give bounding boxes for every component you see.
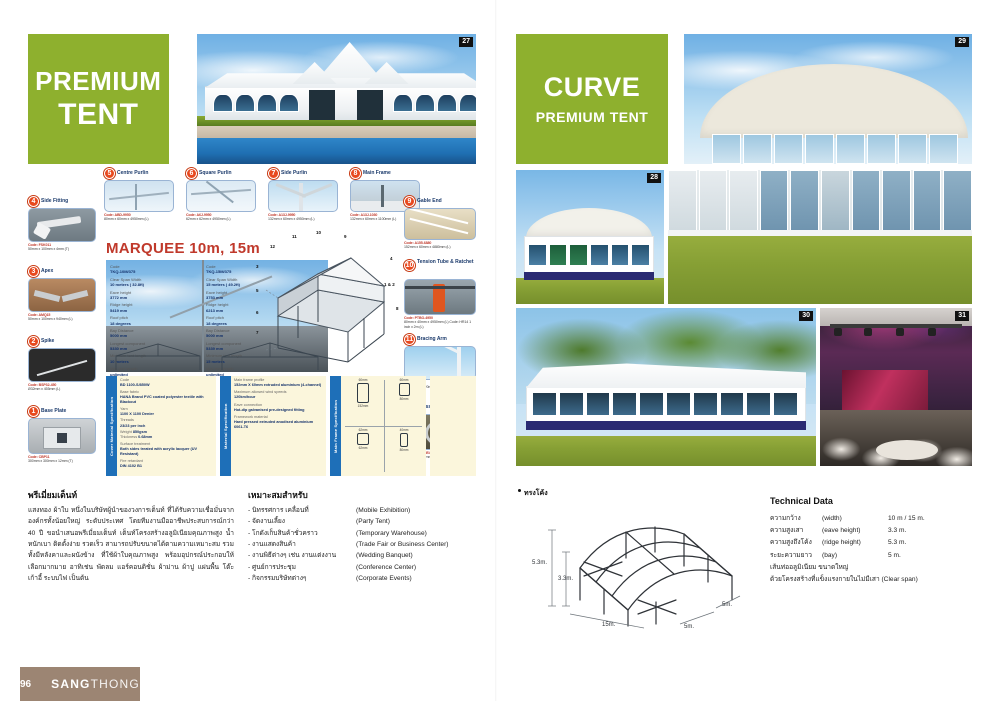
- bullet-icon: [518, 489, 521, 492]
- technical-row: ความสูงเสา (eave height) 3.3 m.: [770, 525, 976, 537]
- usage-en: (Temporary Warehouse): [356, 528, 480, 539]
- photo-badge: 29: [955, 37, 969, 47]
- material-spec-content: Main frame profile152mm X 60mm extruded …: [231, 376, 326, 476]
- intro-block: พรีเมี่ยมเต็นท์ แสงทอง ผ้าใบ หนึ่งในบริษ…: [28, 488, 234, 584]
- window-row: [528, 244, 650, 266]
- part-photo: [28, 418, 96, 454]
- part-code: Code: A6J-9950 62mm x 62mm x 4950mm (L): [186, 213, 256, 222]
- tech-th: ความกว้าง: [770, 513, 822, 525]
- technical-row: ความสูงถึงโค้ง (ridge height) 5.3 m.: [770, 537, 976, 549]
- part-name: Base Plate: [41, 409, 66, 414]
- photo-31: 31: [820, 308, 972, 466]
- usage-en: (Wedding Banquet): [356, 550, 480, 561]
- callout-7: 7: [256, 330, 259, 335]
- left-banner: PREMIUM TENT: [28, 34, 476, 164]
- usage-item: - กิจกรรมบริษัทต่างๆ (Corporate Events): [248, 573, 480, 584]
- photo-badge: 31: [955, 311, 969, 321]
- part-code: Code: A13J-9950 132mm x 60mm x 4950mm (L…: [268, 213, 338, 222]
- tech-th: ระยะความยาว: [770, 550, 822, 562]
- frame-cell-1: 60mm 152mm: [345, 378, 381, 409]
- technical-note-1: เส้นท่ออลูมิเนียม ขนาดใหญ่: [770, 562, 976, 574]
- usage-th: - งานพิธีต่างๆ เช่น งานแต่งงาน: [248, 550, 356, 561]
- photo-badge: 28: [647, 173, 661, 183]
- window: [437, 94, 457, 112]
- usage-th: - งานแสดงสินค้า: [248, 539, 356, 550]
- part-number: 6: [186, 168, 197, 179]
- part-number: 1: [28, 406, 39, 417]
- usage-en: (Trade Fair or Business Center): [356, 539, 480, 550]
- spotlight: [834, 328, 842, 336]
- tech-en: (ridge height): [822, 537, 888, 549]
- part-code: Code: BSP32-450 Ø32mm x 455mm (L): [28, 383, 96, 392]
- callout-1-2: 1 & 2: [384, 282, 395, 287]
- part-photo: [404, 279, 476, 315]
- usage-en: (Mobile Exhibition): [356, 505, 480, 516]
- part-head: 4 Side Fitting: [28, 196, 96, 207]
- part-number: 4: [28, 196, 39, 207]
- usage-item: - งานพิธีต่างๆ เช่น งานแต่งงาน (Wedding …: [248, 550, 480, 561]
- curve-frame-diagram: 5.3m. 3.3m. 15m. 5m. 5m.: [518, 496, 750, 630]
- window: [213, 94, 233, 112]
- photo-29-detail: [668, 170, 972, 304]
- part-photo: [404, 346, 476, 380]
- part-photo: [104, 180, 174, 212]
- part-card-4: 4 Side Fitting Code: FSK011 50mm x 100mm…: [28, 196, 96, 252]
- part-name: Tension Tube & Ratchet: [417, 260, 473, 265]
- tech-value: 5.3 m.: [888, 537, 976, 549]
- page-gutter: [495, 0, 497, 701]
- banquet-table: [876, 440, 938, 460]
- part-name: Gable End: [417, 199, 442, 204]
- left-page-number: 96: [20, 667, 31, 701]
- part-code: Code: AMQ15 50mm x 100mm x 940mm (L): [28, 313, 96, 322]
- curve-frame-svg: 5.3m. 3.3m. 15m. 5m. 5m.: [518, 496, 750, 630]
- part-head: 5 Centre Purlin: [104, 168, 174, 179]
- usage-th: - นิทรรศการ เคลื่อนที่: [248, 505, 356, 516]
- spotlight: [928, 328, 936, 336]
- part-photo: [28, 278, 96, 312]
- frame-spec-extra: [430, 376, 476, 476]
- pool: [197, 138, 476, 164]
- lawn: [668, 236, 972, 304]
- glass-wall: [668, 170, 972, 234]
- part-code: Code: A155-6880 152mm x 60mm x 4880mm (L…: [404, 241, 476, 250]
- callout-6: 6: [256, 310, 259, 315]
- dim-ridge-height: 5.3m.: [532, 560, 547, 566]
- window: [393, 94, 413, 112]
- dim-bay-a: 5m.: [684, 624, 694, 630]
- callout-3: 3: [256, 264, 259, 269]
- material-spec-band-label: Material Specification: [220, 376, 231, 476]
- entrance-left: [309, 90, 335, 120]
- usage-item: - นิทรรศการ เคลื่อนที่ (Mobile Exhibitio…: [248, 505, 480, 516]
- part-head: 7 Side Purlin: [268, 168, 338, 179]
- technical-heading: Technical Data: [770, 496, 976, 506]
- part-name: Side Fitting: [41, 199, 68, 204]
- usage-item: - งานแสดงสินค้า (Trade Fair or Business …: [248, 539, 480, 550]
- usage-th: - โกดังเก็บสินค้าชั่วคราว: [248, 528, 356, 539]
- usage-en: (Party Tent): [356, 516, 480, 527]
- spotlight: [864, 328, 872, 336]
- left-banner-line2: TENT: [58, 100, 138, 130]
- window: [415, 94, 435, 112]
- glass-facade: [712, 134, 958, 164]
- right-banner-line2: PREMIUM TENT: [536, 110, 649, 124]
- tech-th: ความสูงถึงโค้ง: [770, 537, 822, 549]
- material-spec: Material Specification Main frame profil…: [220, 376, 326, 476]
- window-row-left: [213, 94, 299, 112]
- part-photo: [28, 208, 96, 242]
- led-screen: [842, 370, 928, 412]
- part-head: 1 Base Plate: [28, 406, 96, 417]
- part-head: 11 Bracing Arm: [404, 334, 476, 345]
- part-name: Side Purlin: [281, 171, 307, 176]
- left-page: PREMIUM TENT: [0, 0, 496, 701]
- photo-badge: 30: [799, 311, 813, 321]
- callout-8: 8: [396, 306, 399, 311]
- tech-th: ความสูงเสา: [770, 525, 822, 537]
- part-name: Spike: [41, 339, 54, 344]
- left-brandbar: SANGTHONG: [31, 667, 140, 701]
- right-banner-line1: CURVE: [544, 74, 641, 101]
- dim-eave-height: 3.3m.: [558, 576, 573, 582]
- marquee-detail-board: 4 Side Fitting Code: FSK011 50mm x 100mm…: [28, 168, 476, 478]
- part-head: 6 Square Purlin: [186, 168, 256, 179]
- cover-material-spec: Cover Material Specification CodeBD 1100…: [106, 376, 216, 476]
- part-head: 8 Main Frame: [350, 168, 420, 179]
- brand-bold: SANG: [51, 677, 90, 691]
- lawn: [516, 278, 664, 304]
- intro-heading: พรีเมี่ยมเต็นท์: [28, 488, 234, 502]
- tech-value: 3.3 m.: [888, 525, 976, 537]
- usage-block: เหมาะสมสำหรับ - นิทรรศการ เคลื่อนที่ (Mo…: [248, 488, 480, 584]
- right-page: CURVE PREMIUM TENT 29: [496, 0, 992, 701]
- cover-spec-band-label: Cover Material Specification: [106, 376, 117, 476]
- part-name: Apex: [41, 269, 53, 274]
- part-head: 10 Tension Tube & Ratchet: [404, 260, 476, 278]
- right-banner-photo: 29: [684, 34, 972, 164]
- dim-length: 15m.: [602, 622, 616, 628]
- callout-10: 10: [316, 230, 321, 235]
- technical-note-2: ด้วยโครงสร้างที่แข็งแรงกายในไม่มีเสา (Cl…: [770, 574, 976, 586]
- part-number: 2: [28, 336, 39, 347]
- tech-en: (width): [822, 513, 888, 525]
- usage-item: - โกดังเก็บสินค้าชั่วคราว (Temporary War…: [248, 528, 480, 539]
- part-code: Code: CBP11 300mm x 300mm x 12mm (T): [28, 455, 96, 464]
- tech-en: (eave height): [822, 525, 888, 537]
- right-banner-title: CURVE PREMIUM TENT: [516, 34, 668, 164]
- usage-en: (Corporate Events): [356, 573, 480, 584]
- technical-row: ระยะความยาว (bay) 5 m.: [770, 550, 976, 562]
- usage-en: (Conference Center): [356, 562, 480, 573]
- entrance-right: [357, 90, 383, 120]
- right-banner: CURVE PREMIUM TENT 29: [516, 34, 972, 164]
- usage-item: - ศูนย์การประชุม (Conference Center): [248, 562, 480, 573]
- dim-bay-b: 5m.: [722, 602, 732, 608]
- part-card-2: 2 Spike Code: BSP32-450 Ø32mm x 455mm (L…: [28, 336, 96, 392]
- part-card-6: 6 Square Purlin Code: A6J-9950 62mm x 62…: [186, 168, 256, 222]
- tech-en: (bay): [822, 550, 888, 562]
- frame-cell-4: 40mm 80mm: [387, 428, 421, 453]
- part-name: Square Purlin: [199, 171, 232, 176]
- frame-cell-2: 60mm 80mm: [387, 378, 421, 402]
- callout-12: 12: [270, 244, 275, 249]
- part-head: 9 Gable End: [404, 196, 476, 207]
- spotlight: [896, 328, 904, 336]
- part-head: 2 Spike: [28, 336, 96, 347]
- part-name: Centre Purlin: [117, 171, 148, 176]
- pool-deck: [197, 126, 476, 138]
- elevation-15m: [214, 340, 326, 372]
- part-card-5: 5 Centre Purlin Code: ABD-9950 80mm x 60…: [104, 168, 174, 222]
- blue-skirt: [524, 272, 654, 280]
- usage-item: - จัดงานเลี้ยง (Party Tent): [248, 516, 480, 527]
- photo-28: 28: [516, 170, 664, 304]
- callout-5: 5: [256, 288, 259, 293]
- blue-skirt: [526, 421, 806, 430]
- brand-light: THONG: [91, 677, 140, 691]
- callout-9: 9: [344, 234, 347, 239]
- part-card-1: 1 Base Plate Code: CBP11 300mm x 300mm x…: [28, 406, 96, 464]
- part-code: Code: PTBO-4950 80mm x 40mm x 4950mm (L)…: [404, 316, 476, 329]
- part-number: 3: [28, 266, 39, 277]
- main-frame-spec: Main Frame Specification 60mm 152mm 60mm…: [330, 376, 426, 476]
- window: [235, 94, 255, 112]
- photo-30: 30: [516, 308, 816, 466]
- tech-value: 5 m.: [888, 550, 976, 562]
- part-card-7: 7 Side Purlin Code: A13J-9950 132mm x 60…: [268, 168, 338, 222]
- part-number: 5: [104, 168, 115, 179]
- usage-list: - นิทรรศการ เคลื่อนที่ (Mobile Exhibitio…: [248, 505, 480, 584]
- part-card-9: 9 Gable End Code: A155-6880 152mm x 60mm…: [404, 196, 476, 250]
- part-number: 7: [268, 168, 279, 179]
- left-banner-title: PREMIUM TENT: [28, 34, 169, 164]
- part-card-3: 3 Apex Code: AMQ15 50mm x 100mm x 940mm …: [28, 266, 96, 322]
- cover-spec-content: CodeBD 1100-S/850W Base fabricHANA Brand…: [117, 376, 216, 476]
- tech-value: 10 m / 15 m.: [888, 513, 976, 525]
- part-head: 3 Apex: [28, 266, 96, 277]
- part-photo: [404, 208, 476, 240]
- usage-th: - กิจกรรมบริษัทต่างๆ: [248, 573, 356, 584]
- part-photo: [186, 180, 256, 212]
- intro-body: แสงทอง ผ้าใบ หนึ่งในบริษัทผู้นำของวงการเ…: [28, 505, 234, 584]
- technical-data-block: Technical Data ความกว้าง (width) 10 m / …: [770, 496, 976, 586]
- part-name: Main Frame: [363, 171, 391, 176]
- callout-4: 4: [390, 256, 393, 261]
- part-code: Code: FSK011 50mm x 100mm x 4mm (T): [28, 243, 96, 252]
- catalog-spread: PREMIUM TENT: [0, 0, 992, 701]
- photo-badge: 27: [459, 37, 473, 47]
- window-row-right: [393, 94, 476, 112]
- window: [279, 94, 299, 112]
- part-photo: [268, 180, 338, 212]
- usage-heading: เหมาะสมสำหรับ: [248, 488, 480, 502]
- callout-11: 11: [292, 234, 297, 239]
- window-row: [532, 392, 798, 416]
- part-card-10: 10 Tension Tube & Ratchet Code: PTBO-495…: [404, 260, 476, 329]
- part-number: 8: [350, 168, 361, 179]
- part-name: Bracing Arm: [417, 337, 447, 342]
- usage-th: - ศูนย์การประชุม: [248, 562, 356, 573]
- left-banner-photo: 27: [197, 34, 476, 164]
- part-code: Code: ABD-9950 80mm x 60mm x 4950mm (L): [104, 213, 174, 222]
- frame-spec-band-label: Main Frame Specification: [330, 376, 341, 476]
- window: [257, 94, 277, 112]
- part-photo: [28, 348, 96, 382]
- elevation-10m: [108, 340, 208, 372]
- left-banner-line1: PREMIUM: [35, 68, 161, 94]
- lawn: [516, 436, 816, 466]
- marquee-title: MARQUEE 10m, 15m: [106, 240, 260, 257]
- technical-row: ความกว้าง (width) 10 m / 15 m.: [770, 513, 976, 525]
- window: [459, 94, 476, 112]
- frame-spec-content: 60mm 152mm 60mm 80mm 62mm 62mm: [341, 376, 426, 476]
- usage-th: - จัดงานเลี้ยง: [248, 516, 356, 527]
- brand-wordmark: SANGTHONG: [51, 677, 140, 691]
- frame-cell-3: 62mm 62mm: [345, 428, 381, 451]
- part-number: 9: [404, 196, 415, 207]
